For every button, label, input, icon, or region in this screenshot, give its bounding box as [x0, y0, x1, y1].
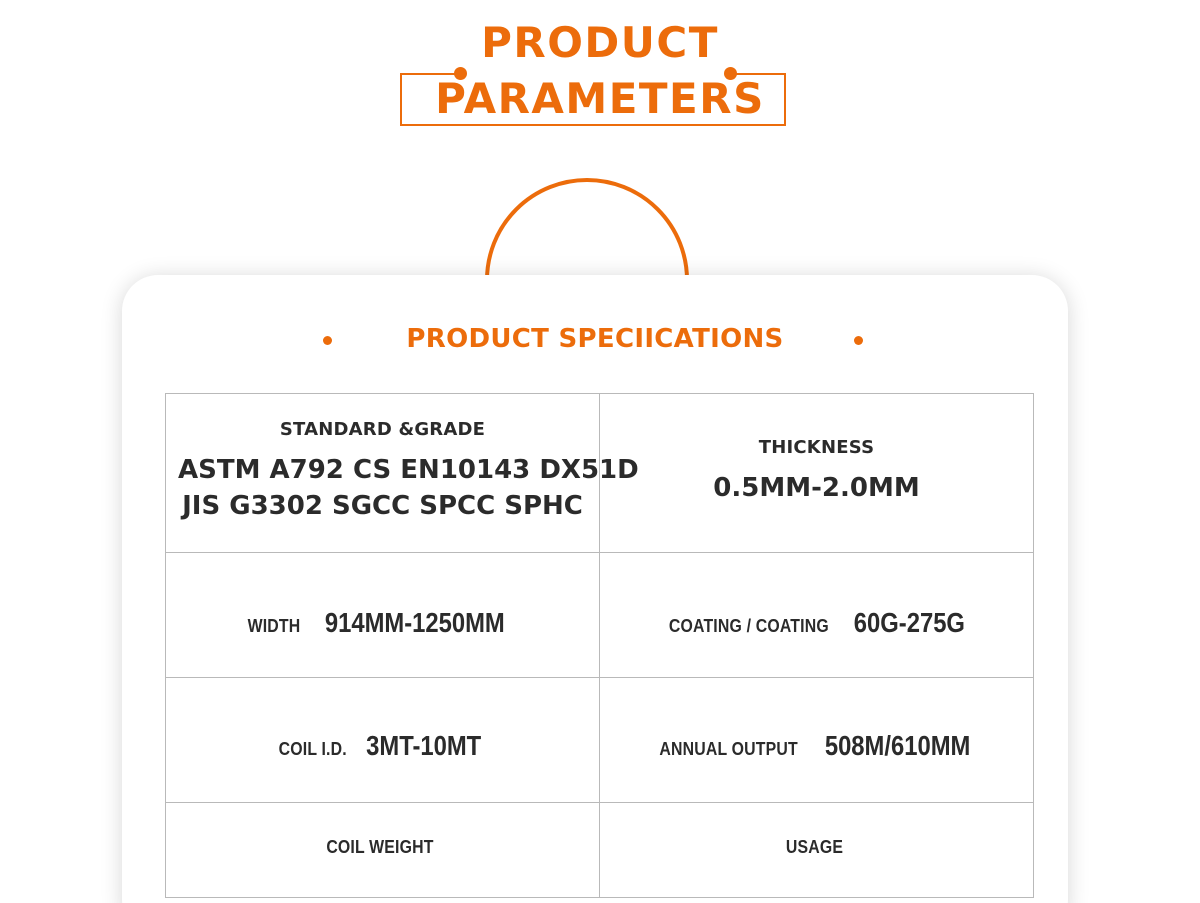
cell-label: WIDTH	[248, 614, 301, 638]
table-row: STANDARD &GRADE ASTM A792 CS EN10143 DX5…	[166, 394, 1034, 553]
semicircle-arc-icon	[482, 172, 692, 282]
table-cell-thickness: THICKNESS 0.5MM-2.0MM	[600, 394, 1034, 553]
table-row: WIDTH 914MM-1250MM COATING / COATING 60G…	[166, 553, 1034, 678]
section-title-right-dot-icon	[854, 336, 863, 345]
table-cell-coil-weight: COIL WEIGHT	[166, 803, 600, 898]
cell-value-line-2: JIS G3302 SGCC SPCC SPHC	[178, 488, 587, 524]
table-cell-annual-output: ANNUAL OUTPUT 508M/610MM	[600, 678, 1034, 803]
cell-label: STANDARD &GRADE	[178, 418, 587, 442]
page-title-line-2: PARAMETERS	[0, 75, 1200, 123]
specifications-card-inner: PRODUCT SPECIICATIONS STANDARD &GRADE AS…	[122, 275, 1068, 903]
section-title: PRODUCT SPECIICATIONS	[122, 320, 1068, 358]
cell-label: ANNUAL OUTPUT	[659, 737, 797, 761]
table-cell-coil-id: COIL I.D. 3MT-10MT	[166, 678, 600, 803]
table-cell-standard-grade: STANDARD &GRADE ASTM A792 CS EN10143 DX5…	[166, 394, 600, 553]
cell-value: 0.5MM-2.0MM	[612, 470, 1021, 506]
specifications-card: PRODUCT SPECIICATIONS STANDARD &GRADE AS…	[122, 275, 1068, 903]
cell-value: 3MT-10MT	[366, 728, 481, 764]
cell-label: COATING / COATING	[669, 614, 829, 638]
cell-value: 508M/610MM	[825, 728, 971, 764]
table-cell-width: WIDTH 914MM-1250MM	[166, 553, 600, 678]
cell-value: 60G-275G	[854, 605, 965, 641]
table-row: COIL WEIGHT USAGE	[166, 803, 1034, 898]
specifications-table: STANDARD &GRADE ASTM A792 CS EN10143 DX5…	[165, 393, 1034, 898]
product-parameters-page: PRODUCT PARAMETERS PRODUCT SPECIICATIONS	[0, 0, 1200, 903]
cell-label: COIL I.D.	[278, 737, 346, 761]
table-row: COIL I.D. 3MT-10MT ANNUAL OUTPUT 508M/61…	[166, 678, 1034, 803]
section-title-row: PRODUCT SPECIICATIONS	[122, 320, 1068, 362]
page-title-line-1: PRODUCT	[0, 19, 1200, 67]
cell-value-line-1: 0.5MM-2.0MM	[612, 470, 1021, 506]
cell-label: THICKNESS	[612, 436, 1021, 460]
table-cell-coating: COATING / COATING 60G-275G	[600, 553, 1034, 678]
cell-value: 914MM-1250MM	[325, 605, 505, 641]
cell-label: USAGE	[786, 835, 843, 859]
cell-label: COIL WEIGHT	[327, 835, 434, 859]
cell-value-line-1: ASTM A792 CS EN10143 DX51D	[178, 452, 587, 488]
page-banner: PRODUCT PARAMETERS	[0, 0, 1200, 160]
cell-value: ASTM A792 CS EN10143 DX51D JIS G3302 SGC…	[178, 452, 587, 524]
table-cell-usage: USAGE	[600, 803, 1034, 898]
